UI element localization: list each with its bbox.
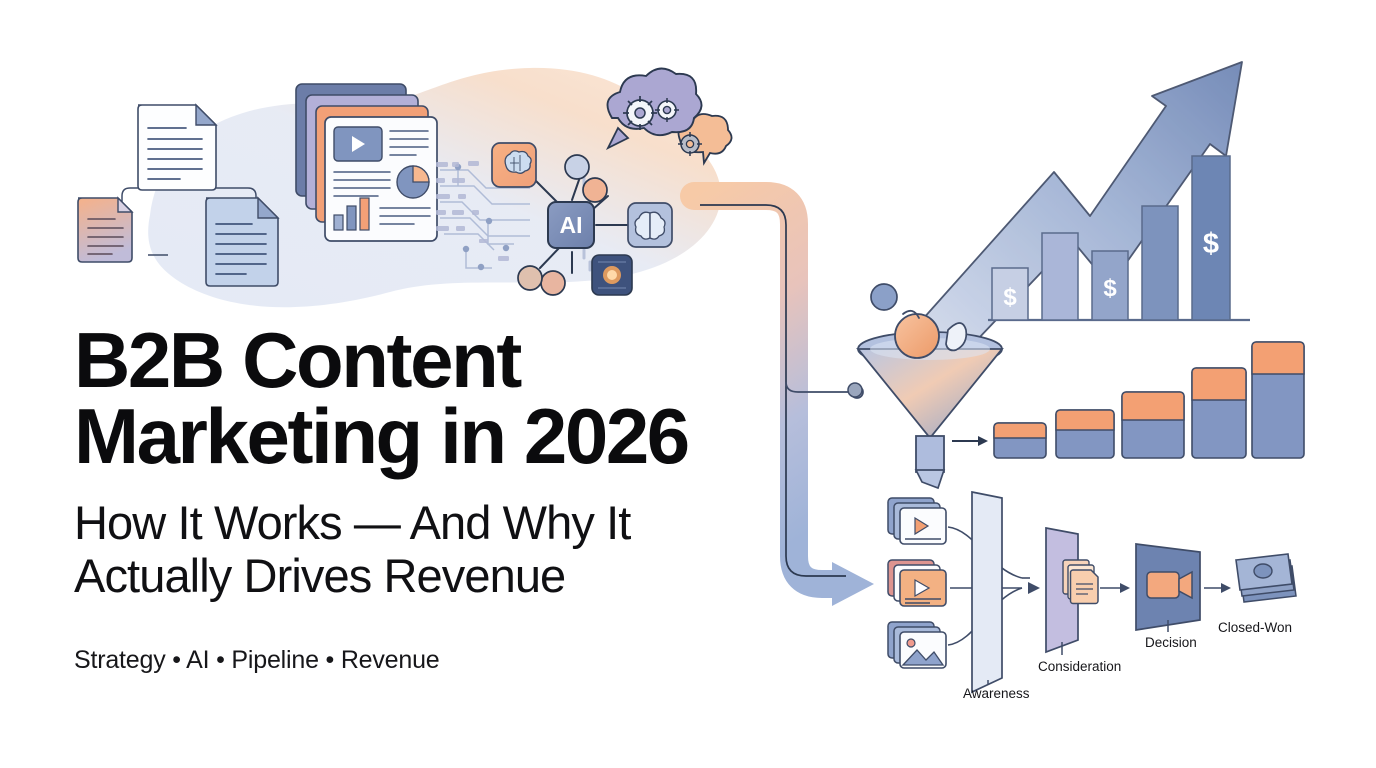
stage-label-awareness: Awareness xyxy=(963,686,1030,701)
decision-video-icon xyxy=(1147,572,1192,598)
cash-stack-icon xyxy=(1236,554,1296,602)
stage-label-closed-won: Closed-Won xyxy=(1218,620,1292,635)
consideration-doc-icon xyxy=(1063,560,1098,604)
stage-awareness xyxy=(972,492,1002,692)
page-subtitle: How It Works — And Why It Actually Drive… xyxy=(74,497,734,602)
page-kicker: Strategy • AI • Pipeline • Revenue xyxy=(74,646,734,675)
stage-label-decision: Decision xyxy=(1145,635,1197,650)
page-title: B2B Content Marketing in 2026 xyxy=(74,322,734,475)
text-block: B2B Content Marketing in 2026 How It Wor… xyxy=(74,322,734,675)
video-card-stack-orange xyxy=(888,560,946,606)
poster-canvas: AI xyxy=(0,0,1376,768)
stage-label-consideration: Consideration xyxy=(1038,659,1121,674)
video-card-stack-blue xyxy=(888,498,946,544)
image-card-stack-blue xyxy=(888,622,946,668)
